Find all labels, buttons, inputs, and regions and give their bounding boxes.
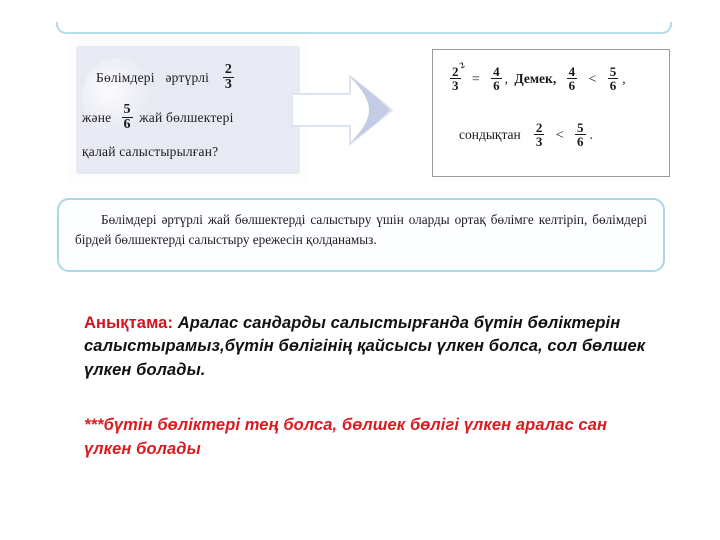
compare2-left-fraction: 2 3 — [534, 121, 545, 149]
compare1-left-fraction: 4 6 — [567, 65, 578, 93]
compare2-tail: . — [590, 127, 593, 142]
fraction-numerator: 2 — [223, 63, 234, 78]
fraction-numerator: 4 — [491, 65, 502, 79]
block-arrow-right-icon — [292, 74, 410, 146]
question-panel: Бөлімдері әртүрлі 2 3 және 5 6 жай бөлше… — [66, 36, 310, 184]
question-line2-suffix: жай бөлшектері — [139, 110, 233, 125]
demek-word: Демек, — [514, 71, 556, 86]
fraction-denominator: 3 — [223, 78, 234, 92]
fraction-denominator: 6 — [491, 79, 502, 92]
equals-sign: = — [472, 72, 480, 87]
fraction-denominator: 3 — [534, 135, 545, 148]
definition-block: Анықтама: Аралас сандарды салыстырғанда … — [84, 312, 659, 461]
rule-text: Бөлімдері әртүрлі жай бөлшектерді салыст… — [75, 210, 647, 251]
fraction-denominator: 6 — [567, 79, 578, 92]
rule-box: Бөлімдері әртүрлі жай бөлшектерді салыст… — [57, 198, 665, 272]
top-strip-mask — [52, 0, 678, 22]
note-paragraph: ***бүтін бөліктері тең болса, бөлшек бөл… — [84, 414, 659, 461]
compare1-right-fraction: 5 6 — [608, 65, 619, 93]
fraction-numerator: 4 — [567, 65, 578, 79]
fraction-denominator: 3 — [450, 79, 461, 92]
math-line-1: 22 3 = 4 6 , Демек, 4 6 < 5 6 , — [447, 66, 626, 94]
fraction-denominator: 6 — [608, 79, 619, 92]
fraction-numerator: 2 — [534, 121, 545, 135]
question-line2-prefix: және — [82, 110, 111, 125]
sondyktan-word: сондықтан — [459, 127, 521, 142]
fraction-numerator: 5 — [608, 65, 619, 79]
less-than-sign: < — [588, 72, 596, 87]
equation-comma: , — [505, 71, 508, 86]
fraction-two-thirds: 2 3 — [223, 63, 234, 93]
definition-label: Анықтама: — [84, 314, 173, 332]
fraction-five-sixths: 5 6 — [122, 103, 133, 133]
question-panel-inner: Бөлімдері әртүрлі 2 3 және 5 6 жай бөлше… — [76, 46, 300, 174]
question-line-2: және 5 6 жай бөлшектері — [82, 104, 234, 134]
question-line-1: Бөлімдері әртүрлі 2 3 — [96, 64, 237, 94]
fraction-numerator: 5 — [575, 121, 586, 135]
fraction-four-sixths: 4 6 — [491, 65, 502, 93]
answer-panel: 22 3 = 4 6 , Демек, 4 6 < 5 6 , сондықта… — [432, 49, 670, 177]
compare1-tail: , — [622, 71, 625, 86]
fraction-numerator: 5 — [122, 103, 133, 118]
question-line1-middle: әртүрлі — [165, 70, 209, 85]
scanned-figure-area: Бөлімдері әртүрлі 2 3 және 5 6 жай бөлше… — [0, 0, 720, 292]
compare2-right-fraction: 5 6 — [575, 121, 586, 149]
question-line-3: қалай салыстырылған? — [82, 144, 218, 160]
less-than-sign: < — [556, 128, 564, 143]
multiplier-mark: 2 — [458, 61, 466, 71]
definition-paragraph: Анықтама: Аралас сандарды салыстырғанда … — [84, 312, 659, 382]
fraction-numerator: 22 — [450, 65, 461, 79]
fraction-denominator: 6 — [575, 135, 586, 148]
fraction-two-thirds-expanded: 22 3 — [450, 65, 461, 93]
math-line-2: сондықтан 2 3 < 5 6 . — [459, 122, 593, 150]
fraction-denominator: 6 — [122, 118, 133, 132]
question-line1-prefix: Бөлімдері — [96, 70, 155, 85]
